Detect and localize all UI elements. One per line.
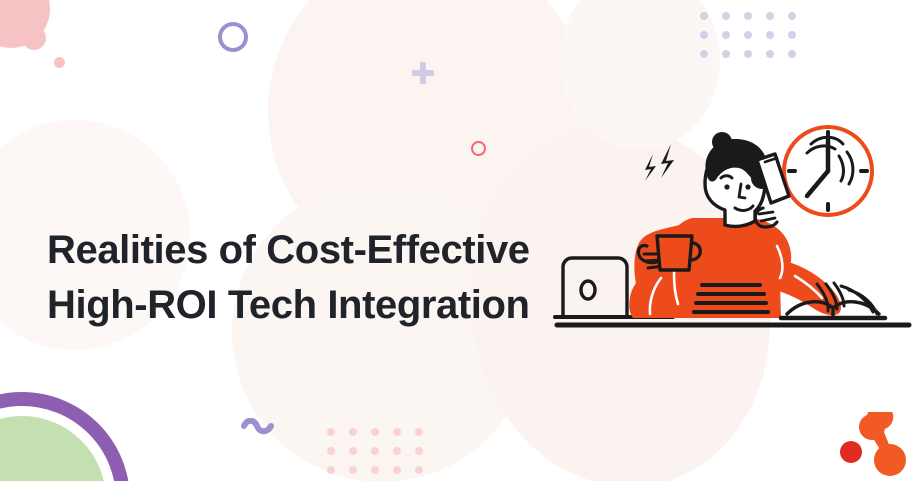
lavender-plus-icon bbox=[412, 62, 434, 84]
page-title-line-2: High-ROI Tech Integration bbox=[47, 278, 530, 333]
purple-ring-icon bbox=[218, 22, 248, 52]
page-title: Realities of Cost-Effective High-ROI Tec… bbox=[47, 223, 530, 333]
pink-circle-small-icon bbox=[54, 57, 65, 68]
page-title-line-1: Realities of Cost-Effective bbox=[47, 223, 530, 278]
busy-multitasking-person-illustration bbox=[549, 118, 916, 340]
pink-circle-medium-icon bbox=[22, 26, 46, 50]
hero-banner: Realities of Cost-Effective High-ROI Tec… bbox=[0, 0, 916, 481]
orange-molecule-icon bbox=[838, 412, 916, 481]
lightning-bolts-icon bbox=[645, 144, 674, 181]
purple-squiggle-icon bbox=[241, 418, 275, 438]
lavender-dot-grid-icon bbox=[700, 12, 810, 69]
pink-dot-grid-icon bbox=[327, 428, 437, 481]
red-ring-icon bbox=[471, 141, 486, 156]
wall-clock-icon bbox=[784, 127, 872, 215]
corner-decoration bbox=[0, 392, 154, 481]
